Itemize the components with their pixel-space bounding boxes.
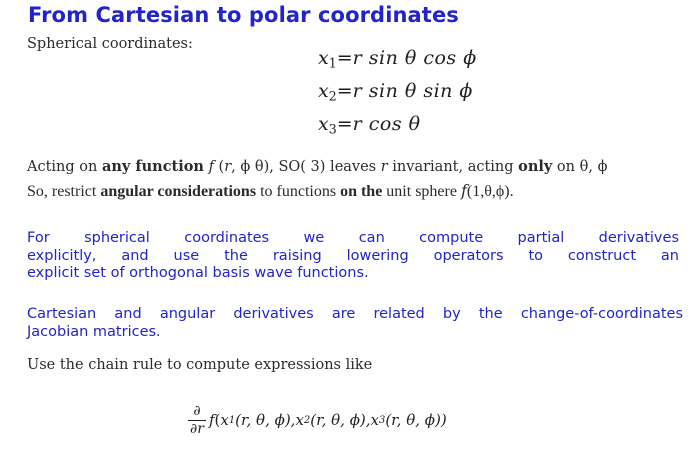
equation-relation: = — [337, 113, 353, 135]
statement-segment: ( — [214, 159, 224, 175]
closing-line: Use the chain rule to compute expression… — [27, 357, 372, 373]
intro-label: Spherical coordinates: — [27, 36, 193, 52]
equation-row: x1=r sin θ cos ϕ — [300, 42, 580, 75]
statement-segment: to functions — [256, 183, 340, 200]
equation-lhs-subscript: 1 — [329, 56, 337, 71]
equation-lhs-subscript: 3 — [329, 122, 337, 137]
fraction-denominator: ∂r — [188, 421, 206, 437]
page-title: From Cartesian to polar coordinates — [28, 3, 459, 27]
formula-arg-variable: x — [220, 411, 228, 429]
statement-restrict-angular: So, restrict angular considerations to f… — [27, 181, 514, 201]
formula-arg-params: (r, θ, ϕ), — [235, 411, 295, 429]
equation-lhs-subscript: 2 — [329, 89, 337, 104]
statement-segment: on θ, ϕ — [552, 159, 607, 175]
statement-segment: , ϕ θ), SO( 3) leaves — [231, 159, 381, 175]
highlight-paragraph-jacobian: Cartesian and angular derivatives are re… — [27, 306, 683, 341]
statement-segment-bold: on the — [340, 183, 382, 200]
paragraph-line: Cartesian and angular derivatives are re… — [27, 306, 683, 324]
paragraph-line: explicit set of orthogonal basis wave fu… — [27, 265, 679, 283]
statement-segment: unit sphere — [382, 183, 461, 200]
statement-segment-bold: any function — [102, 158, 204, 175]
equation-relation: = — [337, 80, 353, 102]
equation-lhs-variable: x — [318, 113, 329, 135]
equation-rhs: r cos θ — [353, 113, 421, 135]
slide-canvas: From Cartesian to polar coordinates Sphe… — [0, 0, 700, 464]
formula-arg-variable: x — [295, 411, 303, 429]
statement-segment: Acting on — [27, 159, 102, 175]
equation-row: x2=r sin θ sin ϕ — [300, 75, 580, 108]
paragraph-line: Jacobian matrices. — [27, 324, 683, 342]
paragraph-line: For spherical coordinates we can compute… — [27, 230, 679, 248]
equation-row: x3=r cos θ — [300, 108, 580, 141]
equation-rhs: r sin θ cos ϕ — [353, 47, 477, 69]
equation-relation: = — [337, 47, 353, 69]
highlight-paragraph-spherical: For spherical coordinates we can compute… — [27, 230, 679, 283]
equation-lhs-variable: x — [318, 80, 329, 102]
paragraph-line: explicitly, and use the raising lowering… — [27, 248, 679, 266]
formula-arg-params: (r, θ, ϕ), — [310, 411, 370, 429]
statement-segment-italic: r — [381, 159, 388, 175]
bottom-formula: ∂ ∂r f(x1(r, θ, ϕ), x2(r, θ, ϕ), x3(r, θ… — [188, 404, 447, 436]
statement-segment-bold: angular considerations — [100, 183, 256, 200]
equation-block: x1=r sin θ cos ϕ x2=r sin θ sin ϕ x3=r c… — [300, 42, 580, 141]
statement-segment: (1,θ,ϕ). — [467, 183, 514, 200]
formula-arg-params: (r, θ, ϕ)) — [385, 411, 446, 429]
statement-segment: So, restrict — [27, 183, 100, 200]
formula-arg-variable: x — [371, 411, 379, 429]
statement-acting-on: Acting on any function f (r, ϕ θ), SO( 3… — [27, 158, 607, 175]
equation-rhs: r sin θ sin ϕ — [353, 80, 473, 102]
partial-derivative-fraction: ∂ ∂r — [188, 404, 206, 436]
statement-segment-bold: only — [518, 158, 552, 175]
equation-lhs-variable: x — [318, 47, 329, 69]
fraction-numerator: ∂ — [191, 404, 202, 420]
statement-segment: invariant, acting — [388, 159, 518, 175]
